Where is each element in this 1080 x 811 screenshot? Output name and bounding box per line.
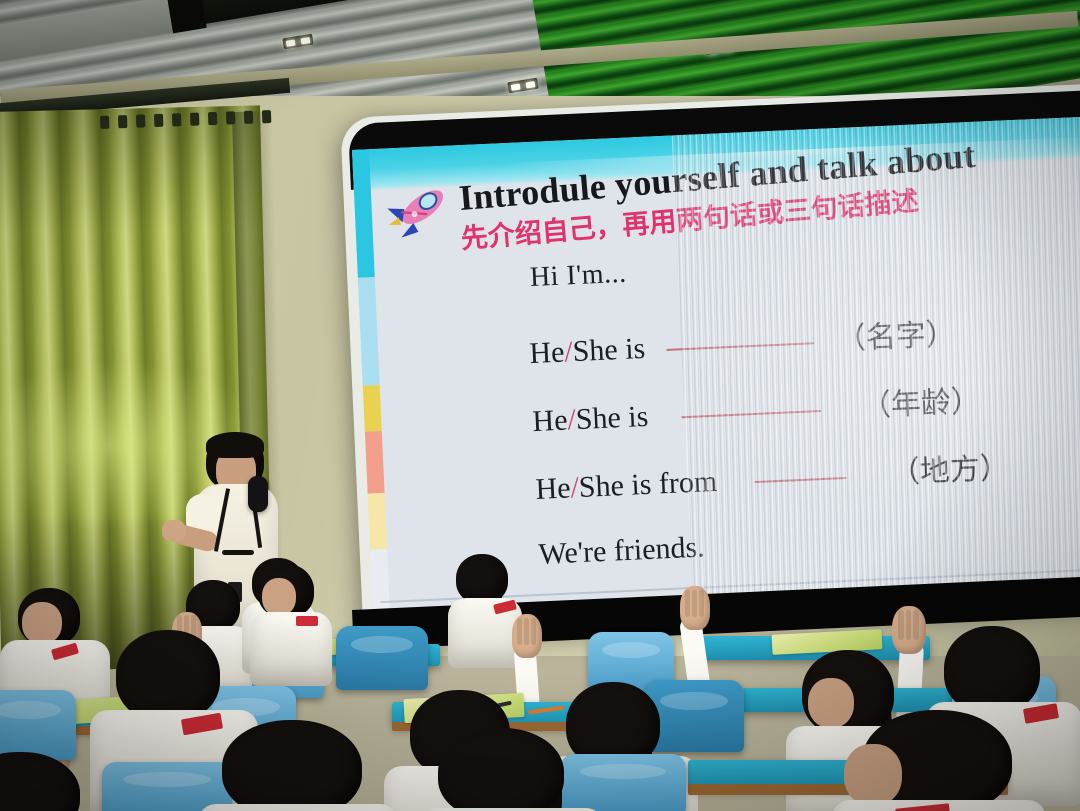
- ceiling-panel-3: [0, 0, 173, 61]
- slide-line-2-blank: [682, 410, 822, 418]
- slide-line-1-suffix: She is: [572, 332, 646, 368]
- ceiling-slot-2: [167, 0, 207, 33]
- student-head: [944, 626, 1040, 714]
- chair-back-2[interactable]: [336, 626, 428, 690]
- student-face: [22, 602, 62, 644]
- slide-line-2: He/She is （年龄）: [531, 376, 981, 440]
- student-uniform: [250, 612, 332, 686]
- slide-line-1-prefix: He: [529, 336, 565, 371]
- slide-line-2-hint: （年龄）: [860, 384, 981, 424]
- slide-line-1-hint: （名字）: [835, 317, 956, 357]
- slide-line-3-blank: [755, 477, 847, 483]
- slide-line-3: He/She is from （地方）: [534, 443, 1010, 508]
- student-face: [808, 678, 854, 728]
- slide-line-2-prefix: He: [532, 404, 568, 439]
- student-head: [456, 554, 508, 604]
- teacher-hair-fringe: [206, 432, 264, 458]
- raised-hand: [680, 586, 710, 630]
- student-face: [262, 578, 296, 616]
- slide-line-3-prefix: He: [535, 471, 571, 506]
- raised-hand: [892, 606, 926, 654]
- teacher-hand: [162, 520, 186, 542]
- student-face: [844, 744, 902, 806]
- raised-hand: [512, 614, 542, 658]
- slide-line-2-suffix: She is: [575, 400, 649, 436]
- slide-line-1-blank: [667, 342, 815, 351]
- slide-line-3-suffix: She is from: [578, 465, 718, 504]
- chair-front-2[interactable]: [560, 754, 686, 811]
- student-head: [222, 720, 362, 811]
- slide-line-1: He/She is （名字）: [528, 309, 956, 372]
- handheld-microphone[interactable]: [248, 476, 268, 512]
- student-uniform: [198, 804, 398, 811]
- red-scarf: [296, 616, 318, 626]
- slide-line-3-hint: （地方）: [889, 451, 1010, 491]
- student-head: [438, 728, 564, 811]
- slide-line-0: Hi I'm...: [529, 258, 627, 294]
- classroom-photo: Introdule yourself and talk about 先介绍自己，…: [0, 0, 1080, 811]
- chair-mid-1[interactable]: [0, 690, 76, 760]
- student-head: [116, 630, 220, 722]
- slide-line-0-text: Hi I'm...: [529, 258, 627, 293]
- classroom-seating: [0, 540, 1080, 811]
